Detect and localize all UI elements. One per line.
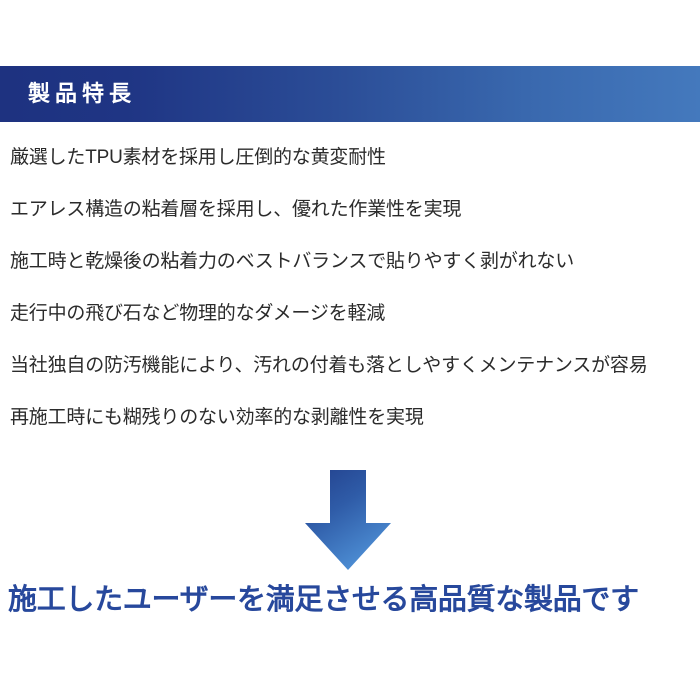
feature-text: 当社独自の防汚機能により、汚れの付着も落としやすくメンテナンスが容易 <box>10 356 648 375</box>
feature-text: エアレス構造の粘着層を採用し、優れた作業性を実現 <box>10 200 461 219</box>
list-item: 当社独自の防汚機能により、汚れの付着も落としやすくメンテナンスが容易 <box>10 356 700 408</box>
feature-text: 再施工時にも糊残りのない効率的な剥離性を実現 <box>10 408 424 427</box>
product-features-panel: 製品特長 厳選したTPU素材を採用し圧倒的な黄変耐性 エアレス構造の粘着層を採用… <box>0 0 700 700</box>
list-item: エアレス構造の粘着層を採用し、優れた作業性を実現 <box>10 200 700 252</box>
feature-text: 施工時と乾燥後の粘着力のベストバランスで貼りやすく剥がれない <box>10 252 574 271</box>
feature-text: 厳選したTPU素材を採用し圧倒的な黄変耐性 <box>10 148 386 167</box>
section-title: 製品特長 <box>28 83 136 105</box>
feature-text: 走行中の飛び石など物理的なダメージを軽減 <box>10 304 385 323</box>
closing-headline: 施工したユーザーを満足させる高品質な製品です <box>8 583 698 618</box>
list-item: 再施工時にも糊残りのない効率的な剥離性を実現 <box>10 408 700 460</box>
list-item: 厳選したTPU素材を採用し圧倒的な黄変耐性 <box>10 148 700 200</box>
section-header-band: 製品特長 <box>0 66 700 122</box>
list-item: 走行中の飛び石など物理的なダメージを軽減 <box>10 304 700 356</box>
arrow-down-icon <box>305 470 391 570</box>
feature-list: 厳選したTPU素材を採用し圧倒的な黄変耐性 エアレス構造の粘着層を採用し、優れた… <box>10 148 700 460</box>
list-item: 施工時と乾燥後の粘着力のベストバランスで貼りやすく剥がれない <box>10 252 700 304</box>
